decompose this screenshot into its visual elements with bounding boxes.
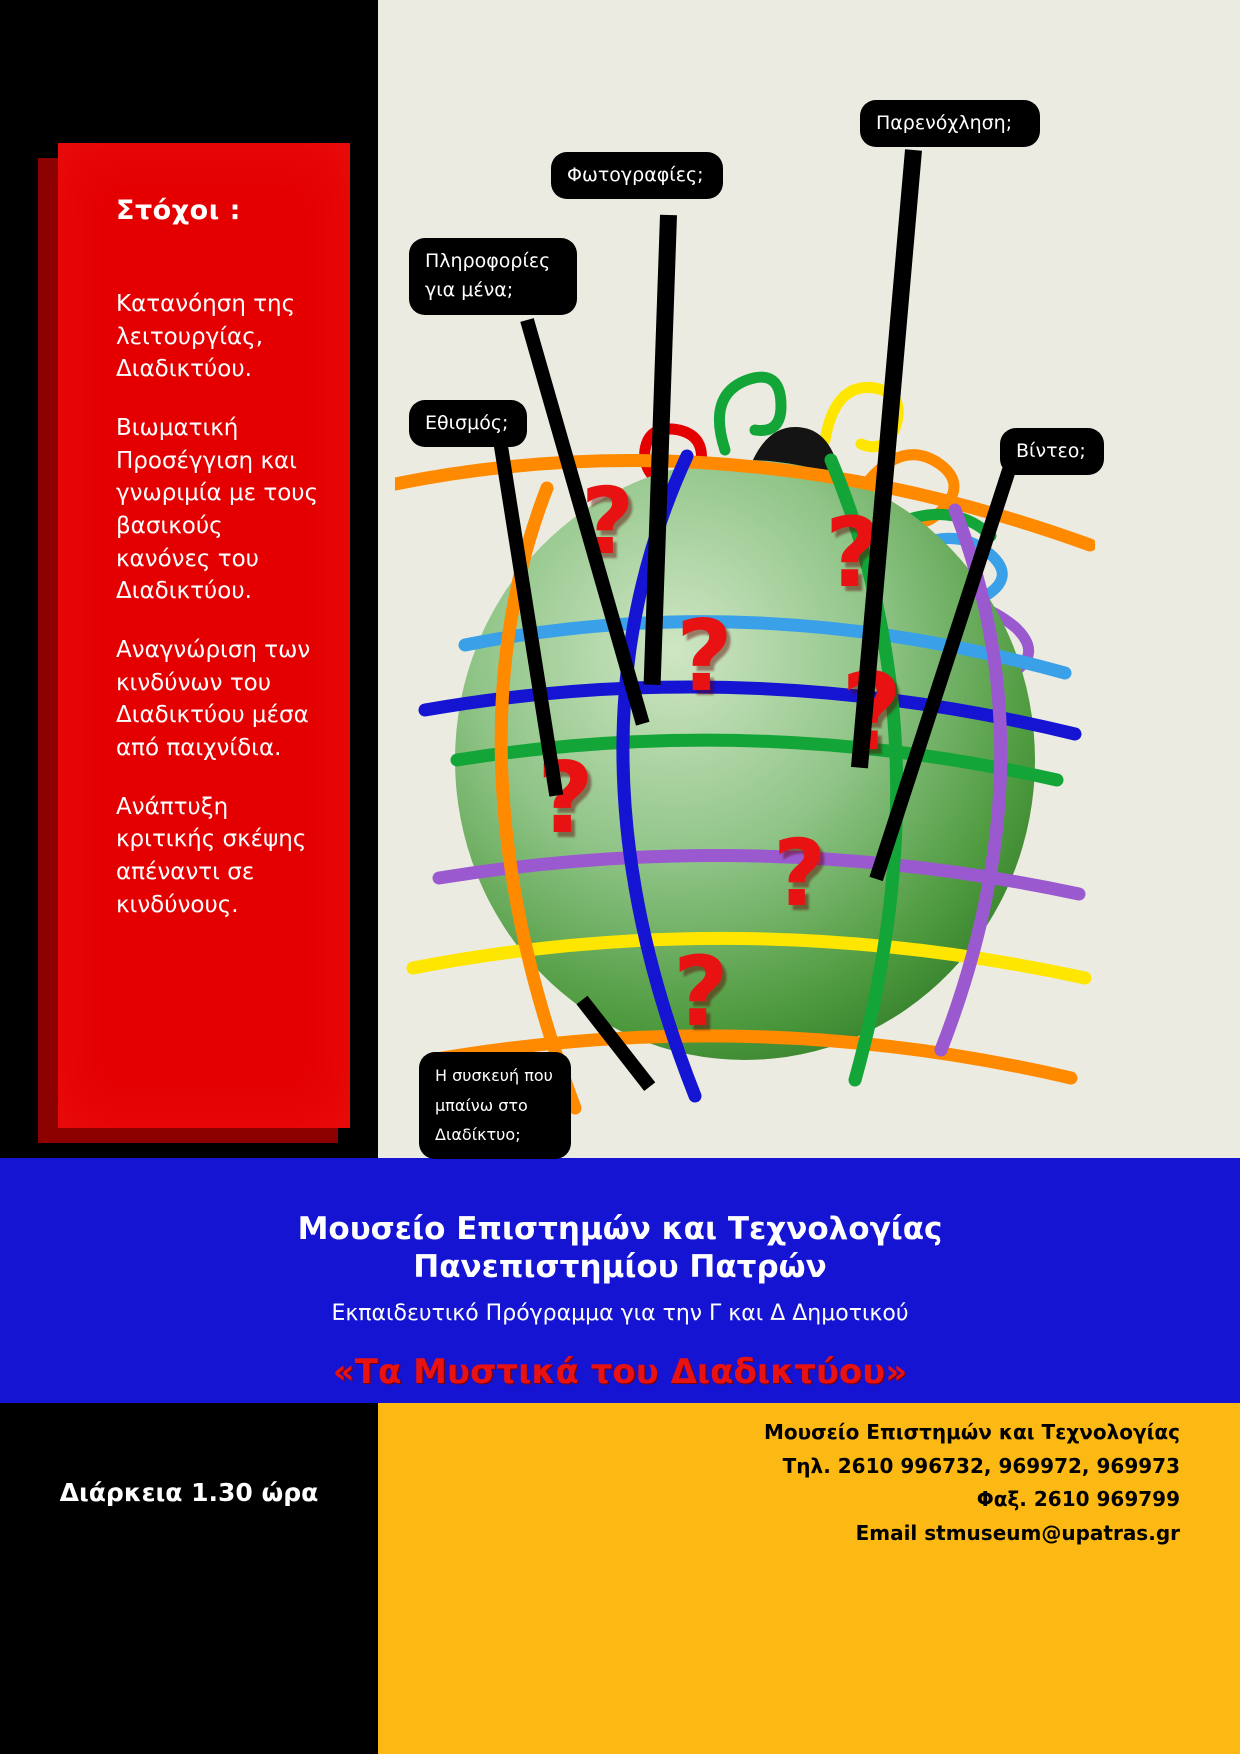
- duration-text: Διάρκεια 1.30 ώρα: [0, 1478, 378, 1507]
- contact-line[interactable]: Email stmuseum@upatras.gr: [378, 1517, 1208, 1551]
- objective-item: Κατανόηση της λειτουργίας, Διαδικτύου.: [116, 288, 320, 386]
- objective-item: Ανάπτυξη κριτικής σκέψης απέναντι σε κιν…: [116, 791, 320, 922]
- contact-block: Μουσείο Επιστημών και Τεχνολογίας Τηλ. 2…: [378, 1406, 1208, 1550]
- callout-device[interactable]: Η συσκευή που μπαίνω στο Διαδίκτυο;: [419, 1052, 571, 1159]
- objectives-title: Στόχοι :: [116, 195, 320, 226]
- callout-video[interactable]: Βίντεο;: [1000, 428, 1104, 475]
- program-title: «Τα Μυστικά του Διαδικτύου»: [0, 1352, 1240, 1392]
- program-subtitle: Εκπαιδευτικό Πρόγραμμα για την Γ και Δ Δ…: [0, 1301, 1240, 1326]
- globe-graphic: [395, 260, 1095, 1140]
- callout-harassment[interactable]: Παρενόχληση;: [860, 100, 1040, 147]
- blue-banner: Μουσείο Επιστημών και Τεχνολογίας Πανεπι…: [0, 1158, 1240, 1403]
- globe-illustration: ? ? ? ? ? ? ?: [395, 260, 1095, 1140]
- museum-name: Μουσείο Επιστημών και Τεχνολογίας Πανεπι…: [0, 1158, 1240, 1287]
- objective-item: Βιωματική Προσέγγιση και γνωριμία με του…: [116, 412, 320, 608]
- contact-line: Φαξ. 2610 969799: [378, 1483, 1208, 1517]
- objective-item: Αναγνώριση των κινδύνων του Διαδικτύου μ…: [116, 634, 320, 765]
- question-mark: ?: [673, 944, 729, 1040]
- callout-photos[interactable]: Φωτογραφίες;: [551, 152, 723, 199]
- contact-line: Μουσείο Επιστημών και Τεχνολογίας: [378, 1416, 1208, 1450]
- museum-name-line1: Μουσείο Επιστημών και Τεχνολογίας: [298, 1211, 943, 1247]
- question-mark: ?: [773, 828, 826, 920]
- question-mark: ?: [676, 608, 733, 706]
- contact-line: Τηλ. 2610 996732, 969972, 969973: [378, 1450, 1208, 1484]
- objectives-box: Στόχοι : Κατανόηση της λειτουργίας, Διαδ…: [58, 143, 350, 1128]
- callout-addiction[interactable]: Εθισμός;: [409, 400, 527, 447]
- callout-personal-info[interactable]: Πληροφορίες για μένα;: [409, 238, 577, 315]
- poster: Στόχοι : Κατανόηση της λειτουργίας, Διαδ…: [0, 0, 1240, 1754]
- museum-name-line2: Πανεπιστημίου Πατρών: [413, 1249, 826, 1285]
